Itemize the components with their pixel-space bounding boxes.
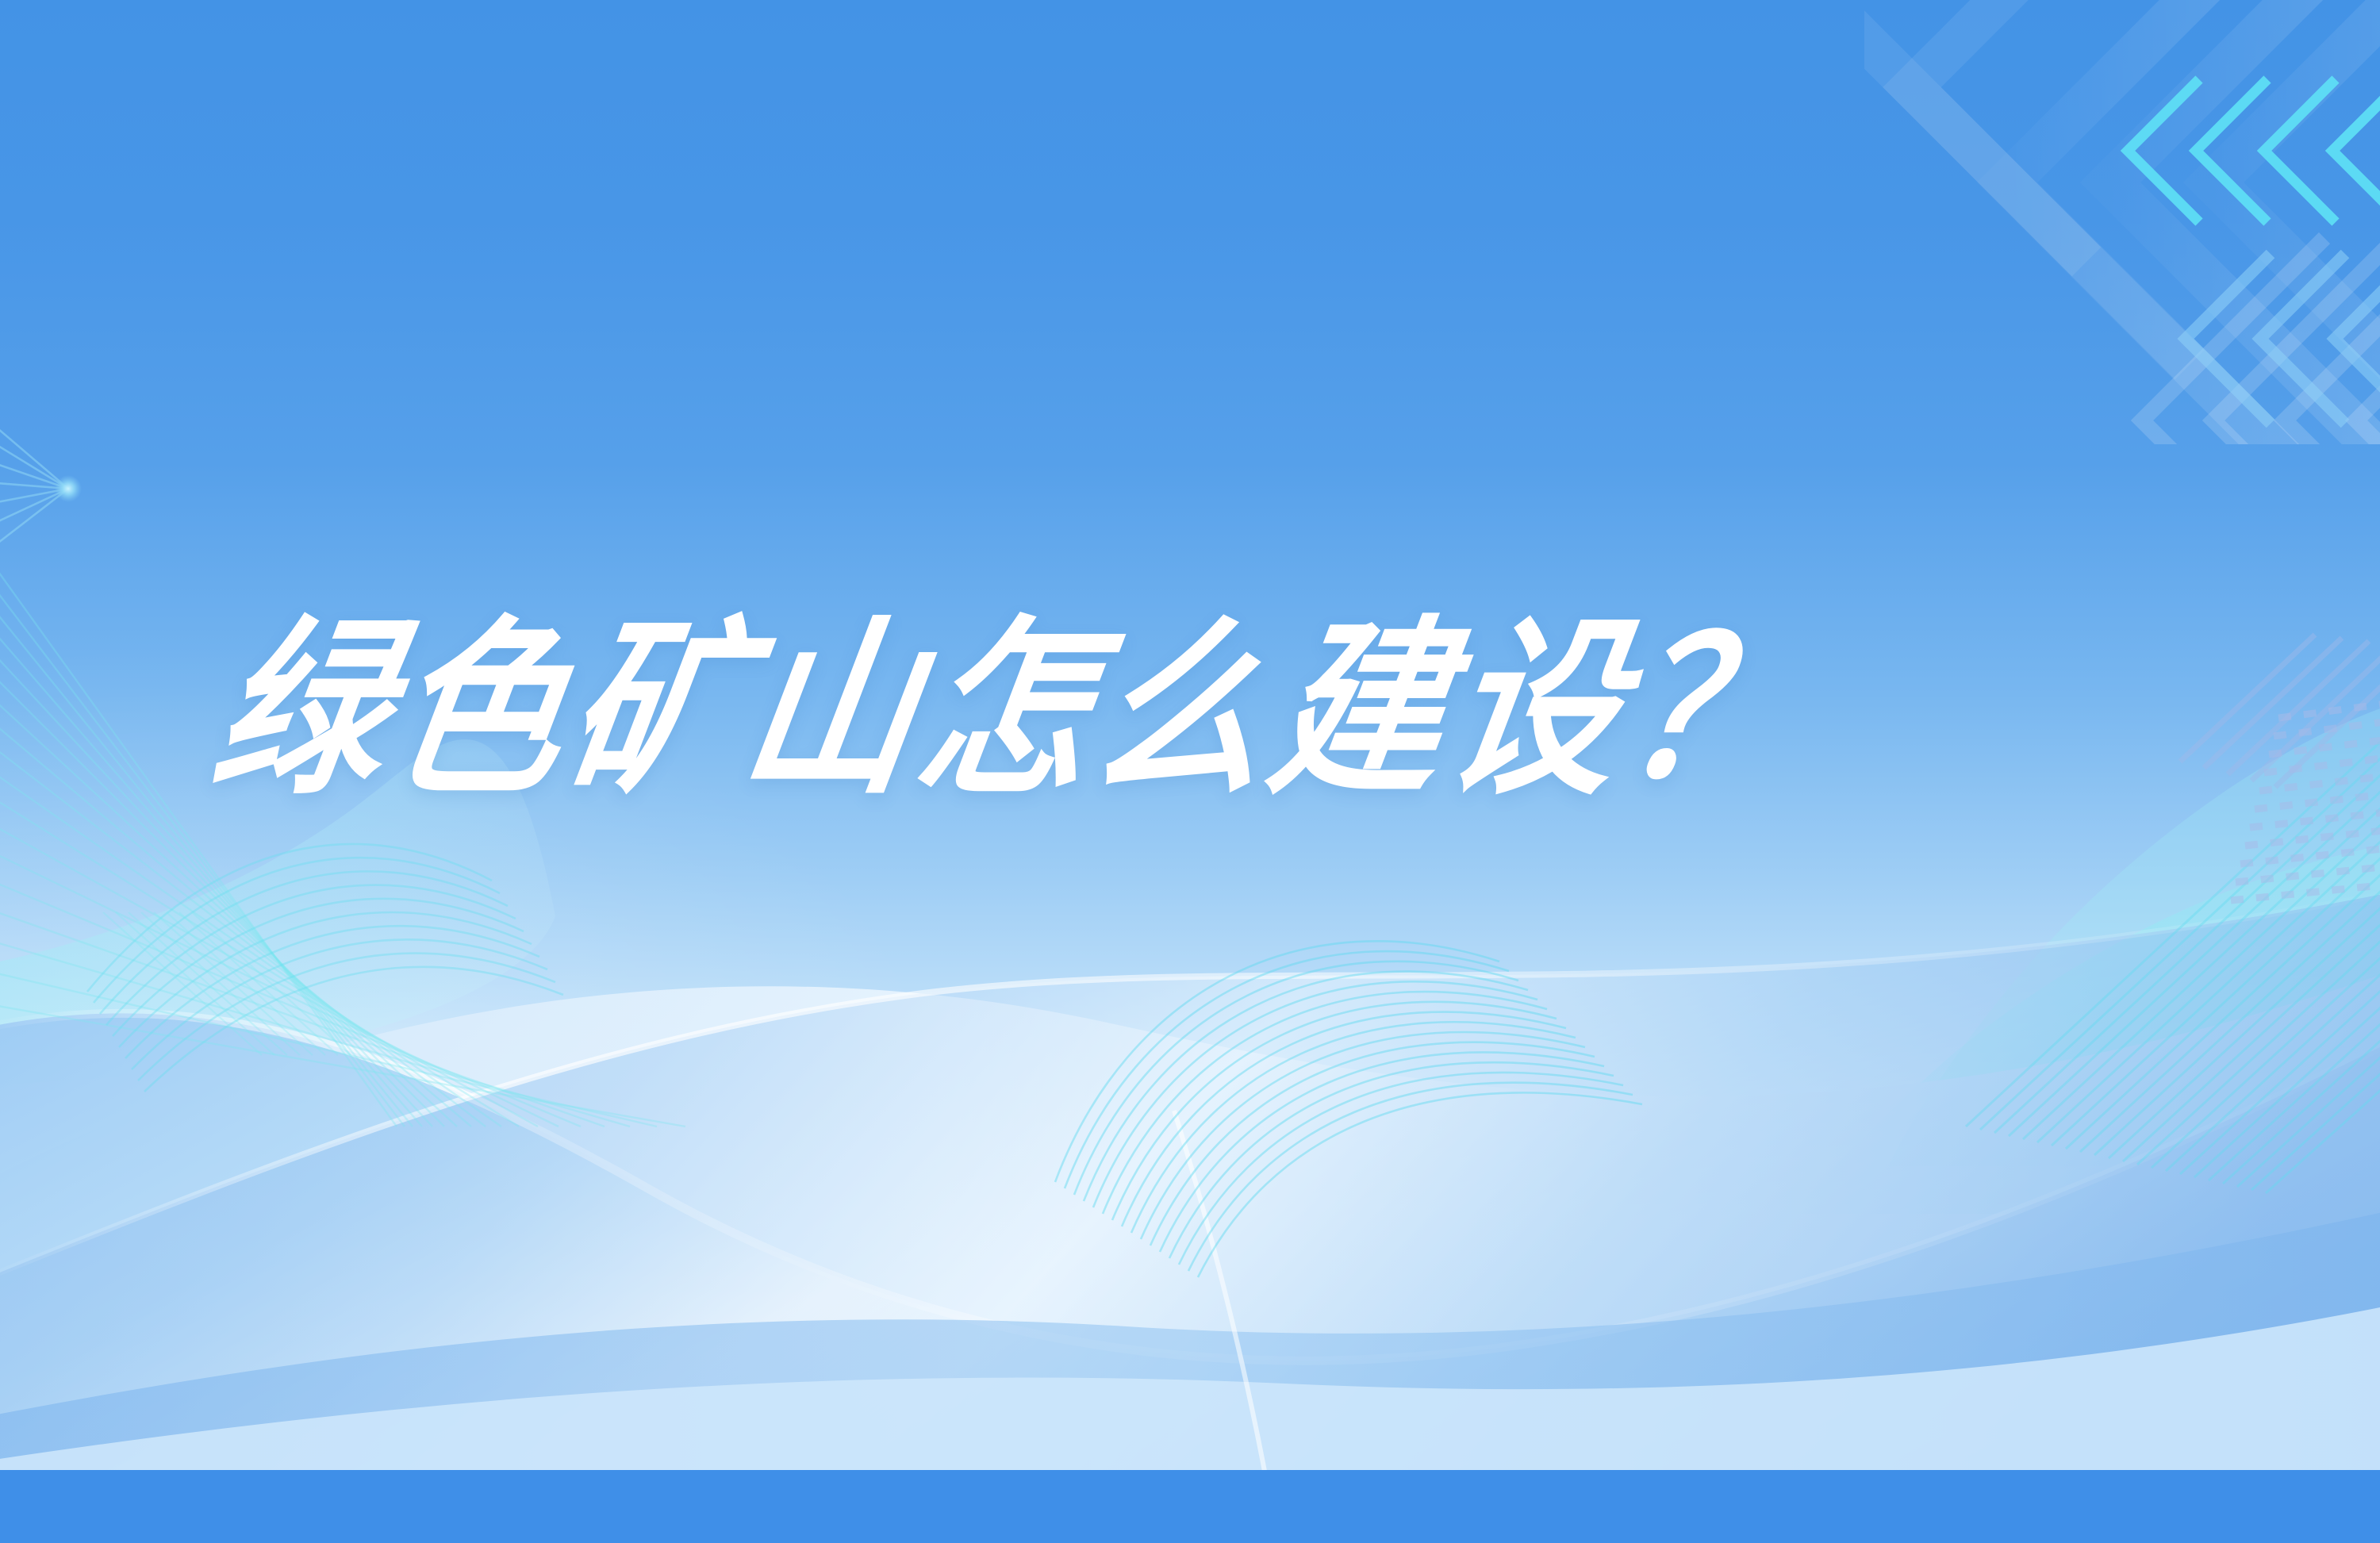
banner-title-container: 绿色矿山怎么建设？ <box>234 609 2138 808</box>
line-fan-center <box>1055 941 1642 1277</box>
bottom-accent-bar <box>0 1470 2380 1543</box>
promo-banner: 绿色矿山怎么建设？ <box>0 0 2380 1543</box>
page-title: 绿色矿山怎么建设？ <box>202 609 2138 812</box>
node-glow-left <box>0 349 82 615</box>
line-fan-left-top <box>0 508 685 1127</box>
